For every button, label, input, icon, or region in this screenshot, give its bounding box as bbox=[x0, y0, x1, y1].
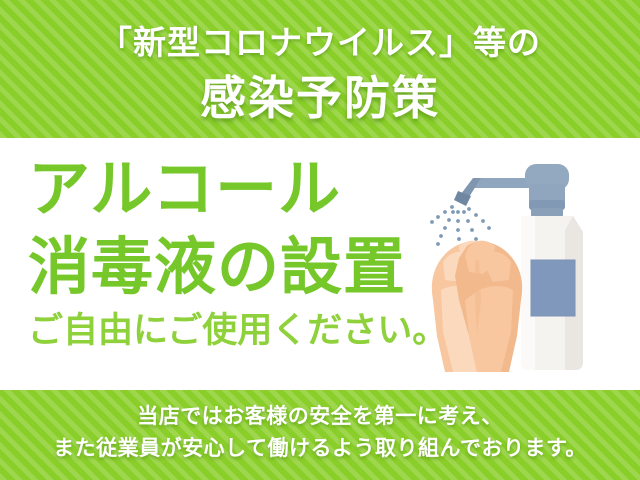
main-note: ご自由にご使用ください。 bbox=[28, 308, 428, 354]
bottle-label-icon bbox=[531, 260, 575, 316]
main-line-2: 消毒液の設置 bbox=[28, 228, 428, 306]
main-message: アルコール 消毒液の設置 ご自由にご使用ください。 bbox=[28, 150, 428, 354]
header-line-1: 「新型コロナウイルス」等の bbox=[0, 16, 640, 64]
cupped-hands-icon bbox=[432, 241, 522, 372]
covid-prevention-poster: 「新型コロナウイルス」等の 感染予防策 アルコール 消毒液の設置 ご自由にご使用… bbox=[0, 0, 640, 480]
header-line-2: 感染予防策 bbox=[0, 62, 640, 128]
hand-sanitizer-illustration bbox=[425, 150, 630, 385]
footer-line-1: 当店ではお客様の安全を第一に考え、 bbox=[0, 400, 640, 430]
main-line-1: アルコール bbox=[28, 150, 428, 228]
footer-line-2: また従業員が安心して働けるよう取り組んでおります。 bbox=[0, 432, 640, 462]
pump-head-icon bbox=[454, 164, 569, 218]
